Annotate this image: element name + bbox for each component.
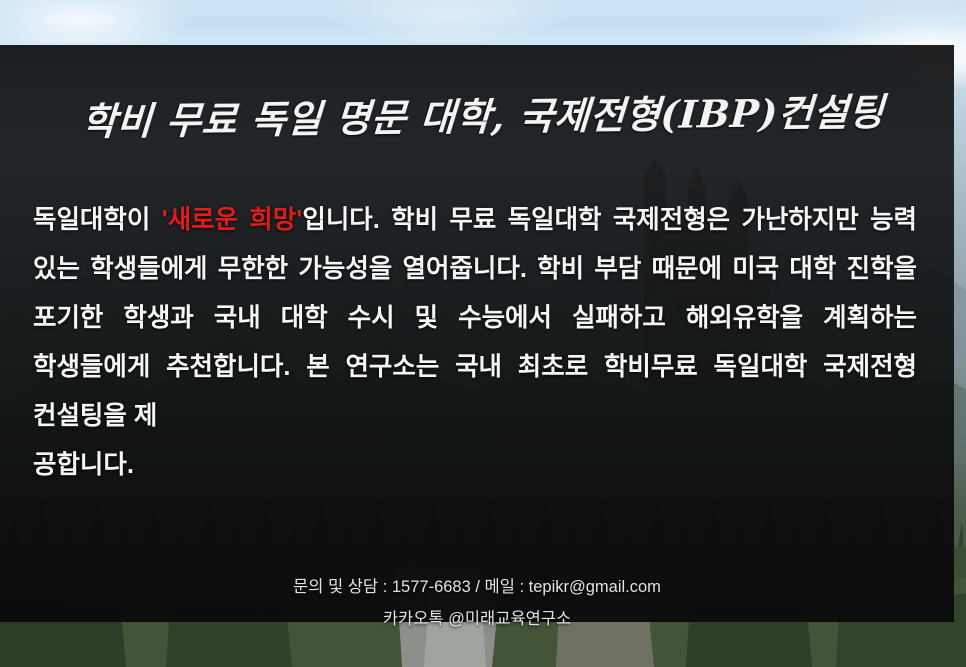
body-text-part1: 독일대학이	[33, 206, 162, 234]
body-paragraph: 독일대학이 '새로운 희망'입니다. 학비 무료 독일대학 국제전형은 가난하지…	[33, 196, 917, 490]
highlight-phrase: '새로운 희망'	[162, 206, 303, 234]
promo-poster: 학비 무료 독일 명문 대학, 국제전형(IBP)컨설팅 독일대학이 '새로운 …	[0, 0, 966, 667]
kakao-channel-line: 카카오톡 @미래교육연구소	[0, 603, 954, 635]
body-text-part2: 입니다. 학비 무료 독일대학 국제전형은 가난하지만 능력 있는 학생들에게 …	[33, 206, 917, 430]
body-text-part3: 공합니다.	[33, 441, 917, 490]
footer-contact-block: 문의 및 상담 : 1577-6683 / 메일 : tepikr@gmail.…	[0, 571, 954, 635]
cloud-icon	[330, 0, 570, 44]
contact-phone-email-line: 문의 및 상담 : 1577-6683 / 메일 : tepikr@gmail.…	[0, 571, 954, 603]
